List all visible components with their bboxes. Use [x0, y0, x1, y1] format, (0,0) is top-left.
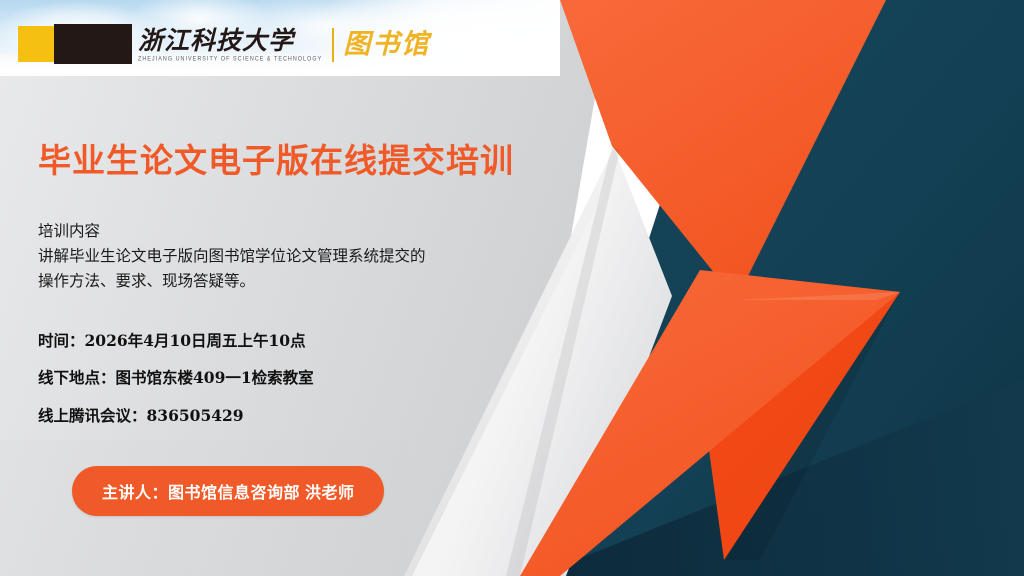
event-details: 时间：2026年4月10日周五上午10点 线下地点：图书馆东楼409一1检索教室… [38, 333, 598, 424]
slide-canvas: 浙江科技大学 ZHEJIANG UNIVERSITY OF SCIENCE & … [0, 0, 1024, 576]
page-title: 毕业生论文电子版在线提交培训 [38, 140, 598, 181]
detail-value-time: 2026年4月10日周五上午10点 [85, 331, 306, 350]
training-content-block: 培训内容 讲解毕业生论文电子版向图书馆学位论文管理系统提交的 操作方法、要求、现… [38, 219, 598, 294]
detail-label-venue: 线下地点： [38, 368, 116, 387]
training-content-line-2: 操作方法、要求、现场答疑等。 [38, 269, 598, 294]
logo-university-name-cn: 浙江科技大学 [138, 28, 322, 53]
detail-row-venue: 线下地点：图书馆东楼409一1检索教室 [38, 370, 598, 386]
logo-university-name-en: ZHEJIANG UNIVERSITY OF SCIENCE & TECHNOL… [138, 56, 322, 63]
logo-dark-rectangle [54, 24, 132, 64]
detail-label-time: 时间： [38, 331, 85, 350]
detail-value-meeting-id: 836505429 [147, 406, 244, 425]
speaker-badge: 主讲人：图书馆信息咨询部 洪老师 [72, 466, 384, 516]
logo-divider [332, 28, 334, 62]
logo-gold-square [18, 26, 58, 62]
university-library-logo: 浙江科技大学 ZHEJIANG UNIVERSITY OF SCIENCE & … [18, 24, 430, 66]
main-content: 毕业生论文电子版在线提交培训 培训内容 讲解毕业生论文电子版向图书馆学位论文管理… [38, 140, 598, 445]
logo-mark-icon [18, 24, 132, 66]
detail-row-meeting-id: 线上腾讯会议：836505429 [38, 408, 598, 424]
detail-value-venue: 图书馆东楼409一1检索教室 [116, 368, 314, 387]
training-content-line-1: 讲解毕业生论文电子版向图书馆学位论文管理系统提交的 [38, 244, 598, 269]
logo-university-name: 浙江科技大学 ZHEJIANG UNIVERSITY OF SCIENCE & … [138, 24, 322, 66]
training-content-heading: 培训内容 [38, 219, 598, 244]
detail-row-time: 时间：2026年4月10日周五上午10点 [38, 333, 598, 349]
detail-label-meeting-id: 线上腾讯会议： [38, 406, 147, 425]
logo-library-name: 图书馆 [343, 24, 430, 66]
